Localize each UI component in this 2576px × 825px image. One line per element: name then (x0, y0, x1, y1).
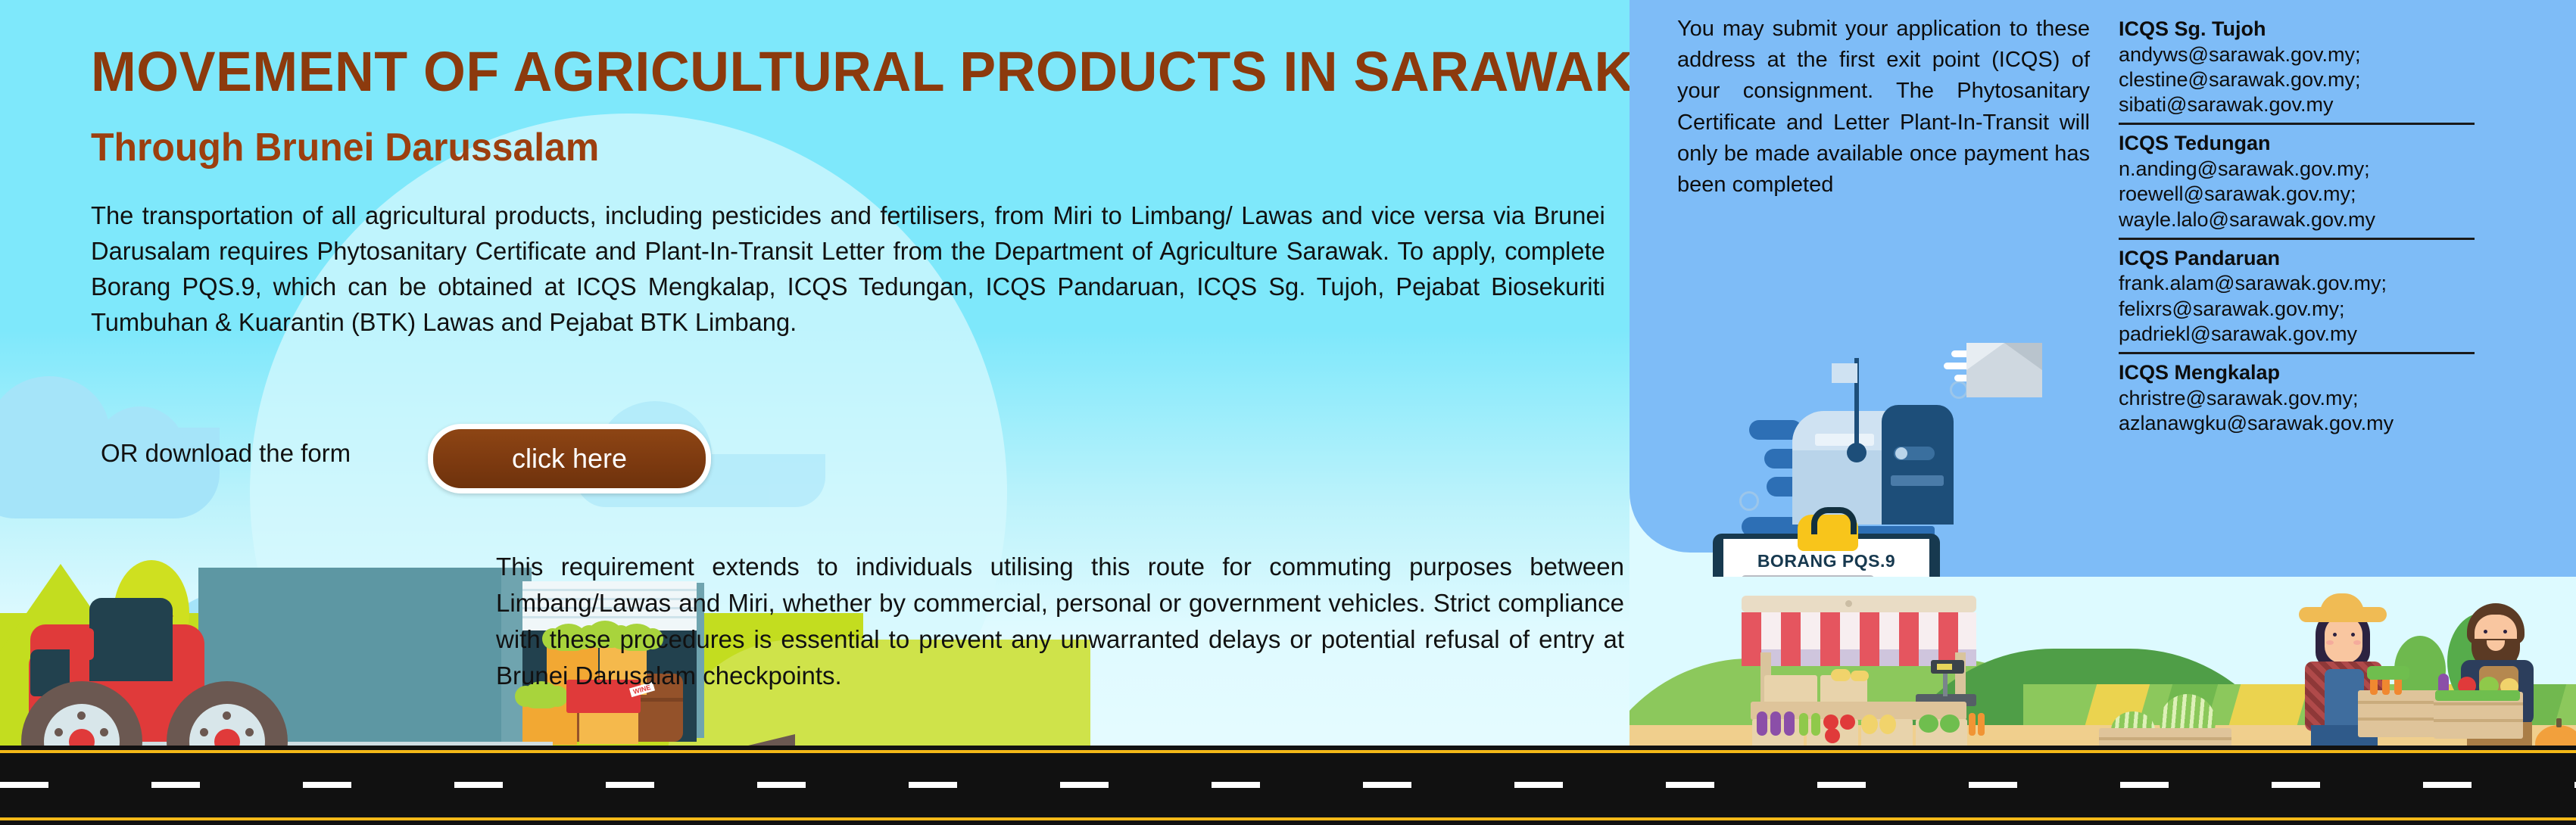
farm-market-illustration (1629, 577, 2576, 757)
click-here-button[interactable]: click here (428, 424, 711, 493)
contact-email[interactable]: christre@sarawak.gov.my; (2119, 386, 2475, 411)
contact-office-name: ICQS Pandaruan (2119, 246, 2475, 272)
contact-email[interactable]: clestine@sarawak.gov.my; (2119, 67, 2475, 92)
contacts-list: ICQS Sg. Tujoh andyws@sarawak.gov.my; cl… (2119, 15, 2475, 441)
contact-email[interactable]: frank.alam@sarawak.gov.my; (2119, 271, 2475, 296)
clipboard-clamp (1798, 515, 1858, 551)
page-subtitle: Through Brunei Darussalam (91, 125, 599, 170)
contact-email[interactable]: padriekl@sarawak.gov.my (2119, 322, 2475, 347)
main-paragraph: The transportation of all agricultural p… (91, 198, 1605, 340)
market-stall-icon (1742, 596, 1976, 612)
contact-email[interactable]: andyws@sarawak.gov.my; (2119, 42, 2475, 67)
bottom-paragraph: This requirement extends to individuals … (496, 549, 1624, 693)
contact-email[interactable]: azlanawgku@sarawak.gov.my (2119, 411, 2475, 436)
contact-email[interactable]: wayle.lalo@sarawak.gov.my (2119, 207, 2475, 232)
contact-email[interactable]: felixrs@sarawak.gov.my; (2119, 297, 2475, 322)
form-title: BORANG PQS.9 (1723, 551, 1929, 571)
contact-email[interactable]: roewell@sarawak.gov.my; (2119, 182, 2475, 207)
submission-note: You may submit your application to these… (1677, 14, 2090, 201)
road (0, 746, 2576, 825)
envelope-icon (1966, 343, 2042, 397)
contact-office-name: ICQS Mengkalap (2119, 360, 2475, 386)
download-prompt-label: OR download the form (101, 439, 351, 468)
contact-email[interactable]: sibati@sarawak.gov.my (2119, 92, 2475, 117)
contact-office-name: ICQS Sg. Tujoh (2119, 17, 2475, 42)
contact-block: ICQS Pandaruan frank.alam@sarawak.gov.my… (2119, 238, 2475, 352)
page-title: MOVEMENT OF AGRICULTURAL PRODUCTS IN SAR… (91, 39, 1634, 104)
contact-office-name: ICQS Tedungan (2119, 131, 2475, 157)
contact-block: ICQS Sg. Tujoh andyws@sarawak.gov.my; cl… (2119, 15, 2475, 123)
poster-banner: WINE MOVEMENT OF AGRICULTURAL PRODUCTS I… (0, 0, 2576, 825)
contact-block: ICQS Tedungan n.anding@sarawak.gov.my; r… (2119, 123, 2475, 237)
contact-email[interactable]: n.anding@sarawak.gov.my; (2119, 157, 2475, 182)
contact-block: ICQS Mengkalap christre@sarawak.gov.my; … (2119, 352, 2475, 441)
